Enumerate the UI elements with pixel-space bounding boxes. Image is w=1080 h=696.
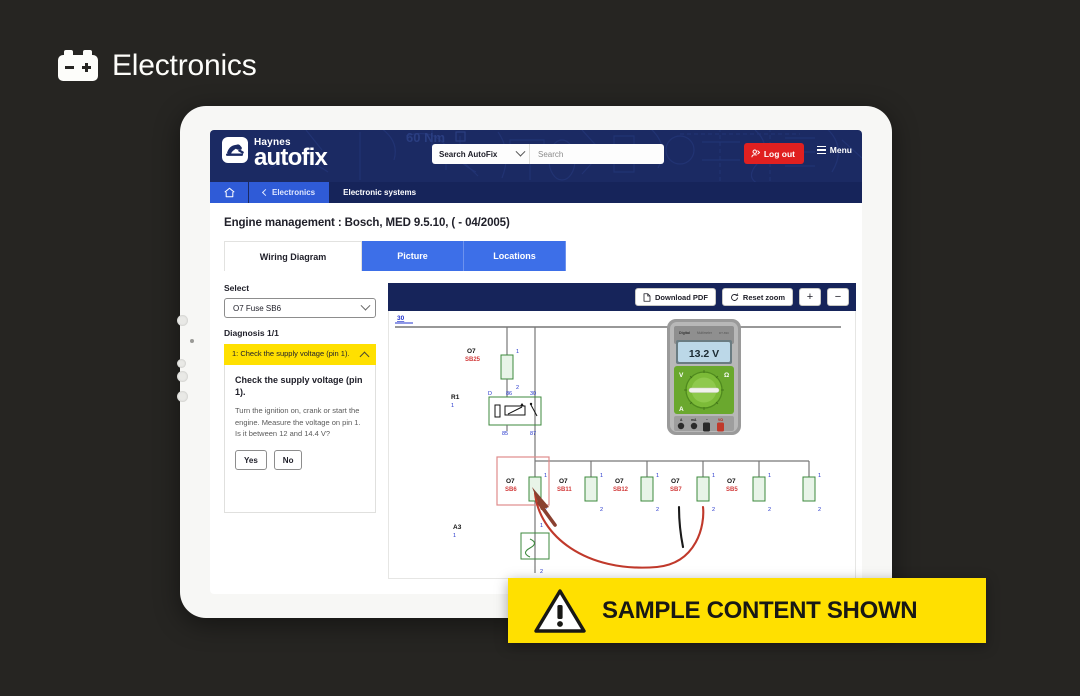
tab-bar: Wiring Diagram Picture Locations [224,241,848,271]
main-split: Select O7 Fuse SB6 Diagnosis 1/1 1: Chec… [224,271,848,579]
svg-text:1: 1 [600,473,603,479]
svg-text:VΩ: VΩ [718,418,723,422]
svg-text:Digital: Digital [679,331,690,335]
svg-text:2: 2 [516,385,519,391]
warning-triangle-icon [534,588,586,634]
svg-text:O7: O7 [615,478,624,485]
svg-text:SB25: SB25 [465,357,481,363]
brand-logo[interactable]: Haynes autofix [222,137,327,170]
screenshot-root: Electronics [0,0,1080,696]
svg-text:2: 2 [768,507,771,513]
component-select-value: O7 Fuse SB6 [233,304,281,313]
page-title: Electronics [112,51,257,81]
app-header: 60 Nm Haynes a [210,130,862,182]
svg-text:−: − [706,418,708,422]
svg-text:1: 1 [451,403,454,409]
svg-text:1: 1 [516,349,519,355]
sample-banner-text: SAMPLE CONTENT SHOWN [602,597,917,625]
svg-text:O7: O7 [506,478,515,485]
sample-content-banner: SAMPLE CONTENT SHOWN [508,578,986,643]
svg-text:1: 1 [544,473,547,479]
svg-text:SB11: SB11 [557,487,572,493]
page-heading: Electronics [58,50,257,81]
svg-text:2: 2 [818,507,821,513]
svg-text:SB5: SB5 [726,487,738,493]
tab-locations[interactable]: Locations [464,241,566,271]
svg-text:1: 1 [453,533,456,539]
svg-text:2: 2 [712,507,715,513]
search-input[interactable] [530,144,664,164]
svg-text:D: D [488,391,492,397]
svg-text:Ω: Ω [724,372,729,379]
component-select[interactable]: O7 Fuse SB6 [224,298,376,318]
chevron-down-icon [361,300,371,310]
breadcrumb-previous-label: Electronics [272,188,315,197]
svg-text:SB12: SB12 [613,487,629,493]
breadcrumb-current-label: Electronic systems [343,188,416,197]
tablet-device: 60 Nm Haynes a [180,106,892,618]
svg-text:A: A [679,406,684,413]
svg-text:85: 85 [502,431,508,437]
home-icon [224,187,235,198]
page-content: Engine management : Bosch, MED 9.5.10, (… [210,203,862,579]
brand-line-2: autofix [254,146,327,170]
tab-wiring-diagram[interactable]: Wiring Diagram [224,241,362,271]
diagnosis-step-header-label: 1: Check the supply voltage (pin 1). [232,349,350,359]
user-logout-icon [751,149,760,158]
svg-text:SB6: SB6 [505,487,517,493]
zoom-in-button[interactable]: + [799,288,821,306]
refresh-icon [730,293,739,302]
svg-text:O7: O7 [559,478,568,485]
answer-yes-button[interactable]: Yes [235,450,267,470]
tab-label: Picture [397,251,428,261]
zoom-out-button[interactable]: − [827,288,849,306]
diagnosis-counter: Diagnosis 1/1 [224,328,376,338]
svg-text:30: 30 [530,391,536,397]
reset-zoom-label: Reset zoom [743,293,785,302]
tablet-button-small[interactable] [177,359,186,368]
breadcrumb-home[interactable] [210,182,248,203]
svg-text:1: 1 [656,473,659,479]
chevron-down-icon [516,146,526,156]
document-title: Engine management : Bosch, MED 9.5.10, (… [224,203,848,241]
svg-text:mA: mA [691,418,697,422]
svg-text:2: 2 [540,569,543,575]
svg-text:60 Nm: 60 Nm [406,130,445,145]
breadcrumb: Electronics Electronic systems [210,182,862,203]
svg-text:O7: O7 [671,478,680,485]
tablet-button-power[interactable] [177,315,188,326]
hamburger-icon [817,146,826,154]
answer-buttons: Yes No [235,450,365,470]
search-scope-label: Search AutoFix [439,150,497,159]
battery-icon [58,50,98,81]
haynes-logo-icon [222,137,248,163]
breadcrumb-item-electronics[interactable]: Electronics [248,182,329,203]
diagnosis-step-text: Turn the ignition on, crank or start the… [235,405,365,439]
logout-label: Log out [764,149,795,159]
diagnosis-step-body: Check the supply voltage (pin 1). Turn t… [224,365,376,513]
viewer-toolbar: Download PDF Reset zoom + − [388,283,856,311]
svg-text:87: 87 [530,431,536,437]
svg-text:2: 2 [656,507,659,513]
answer-no-button[interactable]: No [274,450,303,470]
download-pdf-button[interactable]: Download PDF [635,288,716,306]
svg-text:1: 1 [712,473,715,479]
svg-text:1: 1 [540,523,543,529]
document-icon [643,293,651,302]
download-pdf-label: Download PDF [655,293,708,302]
tab-picture[interactable]: Picture [362,241,464,271]
svg-text:30: 30 [397,315,405,322]
svg-text:O7: O7 [467,348,476,355]
tablet-button-volume-up[interactable] [177,371,188,382]
wiring-diagram-canvas[interactable]: 30 O7 SB25 [388,311,856,579]
wiring-diagram: 30 O7 SB25 [389,311,855,579]
diagnosis-sidebar: Select O7 Fuse SB6 Diagnosis 1/1 1: Chec… [224,283,376,579]
breadcrumb-item-current: Electronic systems [329,182,430,203]
diagram-viewer: Download PDF Reset zoom + − [388,283,856,579]
svg-text:DT-830: DT-830 [719,331,729,335]
tablet-screen: 60 Nm Haynes a [210,130,862,594]
menu-button[interactable]: Menu [817,145,852,155]
select-label: Select [224,283,376,293]
tablet-indicator-dot [190,339,194,343]
svg-text:1: 1 [818,473,821,479]
svg-text:O7: O7 [727,478,736,485]
svg-text:R1: R1 [451,394,460,401]
diagnosis-step-header[interactable]: 1: Check the supply voltage (pin 1). [224,344,376,365]
search-bar: Search AutoFix [432,144,664,164]
tablet-button-volume-down[interactable] [177,391,188,402]
search-scope-select[interactable]: Search AutoFix [432,144,530,164]
tab-label: Wiring Diagram [260,252,326,262]
svg-text:SB7: SB7 [670,487,682,493]
svg-text:2: 2 [600,507,603,513]
svg-text:1: 1 [768,473,771,479]
menu-label: Menu [830,145,852,155]
svg-text:A3: A3 [453,524,462,531]
svg-text:Multimeter: Multimeter [697,331,713,335]
svg-text:86: 86 [506,391,512,397]
tab-label: Locations [493,251,536,261]
diagnosis-step-title: Check the supply voltage (pin 1). [235,374,365,398]
svg-text:V: V [679,372,684,379]
multimeter-reading: 13.2 V [689,348,719,360]
reset-zoom-button[interactable]: Reset zoom [722,288,793,306]
chevron-left-icon [262,189,269,196]
chevron-up-icon [360,352,370,362]
logout-button[interactable]: Log out [744,143,804,164]
